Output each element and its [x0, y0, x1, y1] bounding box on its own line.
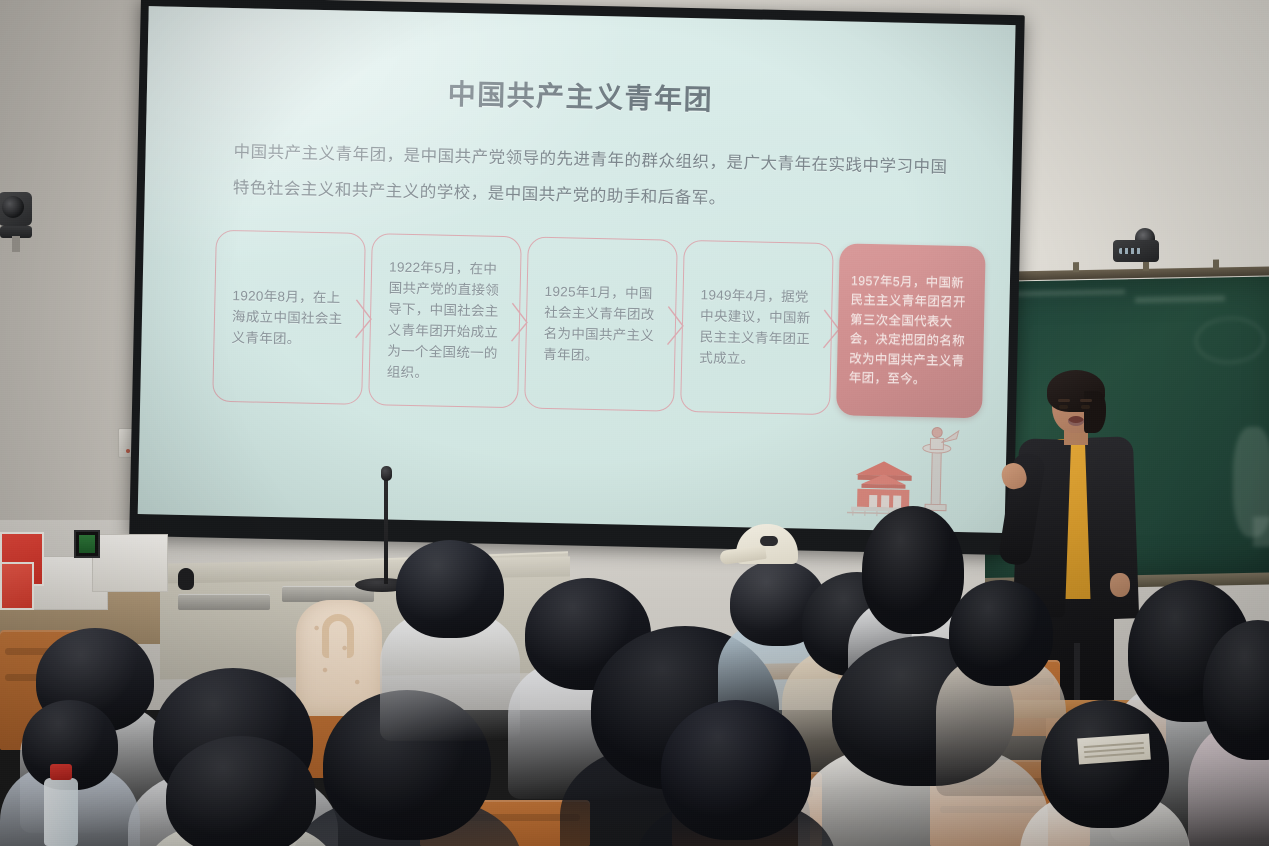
student-silhouette	[1020, 700, 1190, 846]
slide: 中国共产主义青年团 中国共产主义青年团，是中国共产党领导的先进青年的群众组织，是…	[138, 6, 1016, 533]
screen-surface: 中国共产主义青年团 中国共产主义青年团，是中国共产党领导的先进青年的群众组织，是…	[138, 6, 1016, 533]
student-silhouette	[636, 700, 836, 846]
student-head	[166, 736, 316, 846]
student-head	[661, 700, 811, 840]
timeline-step-3-text: 1925年1月，中国社会主义青年团改名为中国共产主义青年团。	[525, 280, 677, 367]
bottle-cap	[50, 764, 72, 780]
student-head	[396, 540, 504, 638]
slide-title: 中国共产主义青年团	[147, 66, 1015, 125]
teacher-hair-back	[1084, 391, 1106, 433]
slide-body-text: 中国共产主义青年团，是中国共产党领导的先进青年的群众组织，是广大青年在实践中学习…	[232, 134, 952, 222]
handheld-device	[74, 530, 100, 558]
microphone-head-icon	[381, 466, 392, 481]
timeline-step-5: 1957年5月，中国新民主主义青年团召开第三次全国代表大会，决定把团的名称改为中…	[836, 243, 986, 418]
projection-screen: 中国共产主义青年团 中国共产主义青年团，是中国共产党领导的先进青年的群众组织，是…	[129, 0, 1025, 555]
timeline-step-2: 1922年5月，在中国共产党的直接领导下，中国社会主义青年团开始成立为一个全国统…	[368, 233, 522, 408]
student-head	[1041, 700, 1169, 828]
timeline-step-5-text: 1957年5月，中国新民主主义青年团召开第三次全国代表大会，决定把团的名称改为中…	[837, 271, 986, 391]
podium-speaker	[178, 568, 194, 590]
student-silhouette	[146, 736, 336, 846]
timeline-step-3: 1925年1月，中国社会主义青年团改名为中国共产主义青年团。	[524, 236, 678, 411]
teacher-mouth	[1068, 416, 1084, 426]
timeline-step-1: 1920年8月，在上海成立中国社会主义青年团。	[212, 230, 366, 405]
timeline-step-2-text: 1922年5月，在中国共产党的直接领导下，中国社会主义青年团开始成立为一个全国统…	[369, 256, 522, 385]
student-head	[949, 580, 1053, 686]
wall-camera-left-icon	[0, 186, 40, 244]
timeline-flow: 1920年8月，在上海成立中国社会主义青年团。 1922年5月，在中国共产党的直…	[212, 230, 971, 421]
student-silhouette	[1188, 620, 1269, 846]
water-bottle	[44, 778, 78, 846]
student-silhouette	[380, 540, 520, 768]
timeline-step-4-text: 1949年4月，据党中央建议，中国新民主主义青年团正式成立。	[681, 284, 833, 371]
timeline-step-1-text: 1920年8月，在上海成立中国社会主义青年团。	[213, 284, 364, 350]
timeline-step-4: 1949年4月，据党中央建议，中国新民主主义青年团正式成立。	[680, 240, 834, 415]
classroom-scene: 中国共产主义青年团 中国共产主义青年团，是中国共产党领导的先进青年的群众组织，是…	[0, 0, 1269, 846]
wall-camera-right-icon	[1113, 228, 1159, 268]
open-notebook	[1077, 734, 1151, 765]
white-carton-2	[92, 534, 168, 592]
